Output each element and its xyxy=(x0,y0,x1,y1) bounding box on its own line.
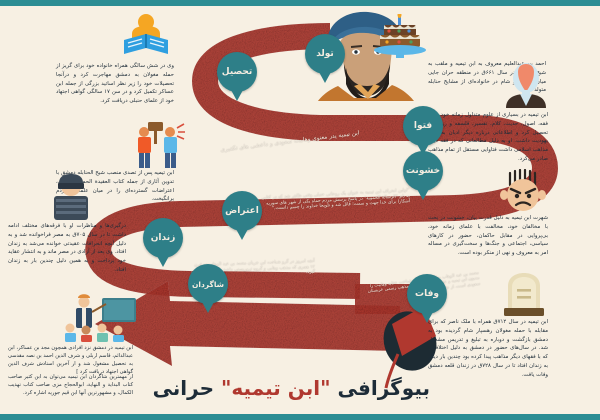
pin-label-zendan: زندان xyxy=(151,233,176,243)
pin-zendan[interactable]: زندان xyxy=(143,218,183,258)
study-text: ابن تیمیه در بسیاری از علوم متداول زمانه… xyxy=(428,111,548,164)
angry-face-icon xyxy=(498,169,550,213)
road-label-2: "اولین انحراف ابن تیمیه به عنوان یک روحا… xyxy=(260,188,411,213)
reading-book-icon xyxy=(120,12,172,60)
prisoner-icon xyxy=(44,174,98,224)
road-label-1: ابن تیمیه پدر معنوی وهابیت سعودی و داعشی… xyxy=(220,131,360,155)
pin-label-shagerdan: شاگردان xyxy=(192,280,224,289)
birthday-cake-icon xyxy=(372,14,428,60)
protest-people-icon xyxy=(132,122,188,170)
pin-vafat[interactable]: وفات xyxy=(407,274,447,314)
infographic-canvas: ابن تیمیه پدر معنوی وهابیت سعودی و داعشی… xyxy=(0,0,600,420)
pin-eteraz[interactable]: اعتراض xyxy=(222,191,262,231)
pin-shagerdan[interactable]: شاگردان xyxy=(188,264,228,304)
tombstone-icon xyxy=(498,272,550,316)
pin-label-eteraz: اعتراض xyxy=(225,206,259,216)
pin-tavallod[interactable]: تولد xyxy=(305,34,345,74)
pin-label-khoshunat: خشونت xyxy=(406,166,440,176)
page-title-tail: حرانی xyxy=(153,376,214,400)
pin-label-tavallod: تولد xyxy=(316,49,334,59)
pin-label-tahsil: تحصیل xyxy=(222,67,252,77)
students-text-2: از مهمترین شاگردان ابن تیمیه می‌توان به … xyxy=(8,373,133,397)
page-title-lead: بیوگرافی xyxy=(338,376,430,400)
violence-text: شهرت ابن تیمیه به دلیل قدرت بیان، خشونت … xyxy=(428,214,548,258)
death-text: ابن تیمیه در سال ۷۱۲ق همراه با ملک ناصر … xyxy=(428,318,548,379)
scholar-icon xyxy=(500,62,552,108)
pin-khoshunat[interactable]: خشونت xyxy=(403,151,443,191)
page-title: بیوگرافی "ابن تیمیه" حرانی xyxy=(153,376,430,400)
students-text: ابن تیمیه در دمشق نزد افرادی همچون مجد ب… xyxy=(8,344,133,377)
pin-label-fatva: فتوا xyxy=(414,121,432,131)
teacher-classroom-icon xyxy=(62,294,138,342)
pin-tahsil[interactable]: تحصیل xyxy=(217,52,257,92)
page-title-highlight: "ابن تیمیه" xyxy=(221,376,331,400)
pin-label-vafat: وفات xyxy=(415,289,439,299)
education-text: وی در شش سالگی همراه خانواده خود برای گر… xyxy=(56,62,174,106)
prison-text: درگیری‌ها و مناظرات او با فرقه‌های مختلف… xyxy=(8,222,126,275)
pin-fatva[interactable]: فتوا xyxy=(403,106,443,146)
